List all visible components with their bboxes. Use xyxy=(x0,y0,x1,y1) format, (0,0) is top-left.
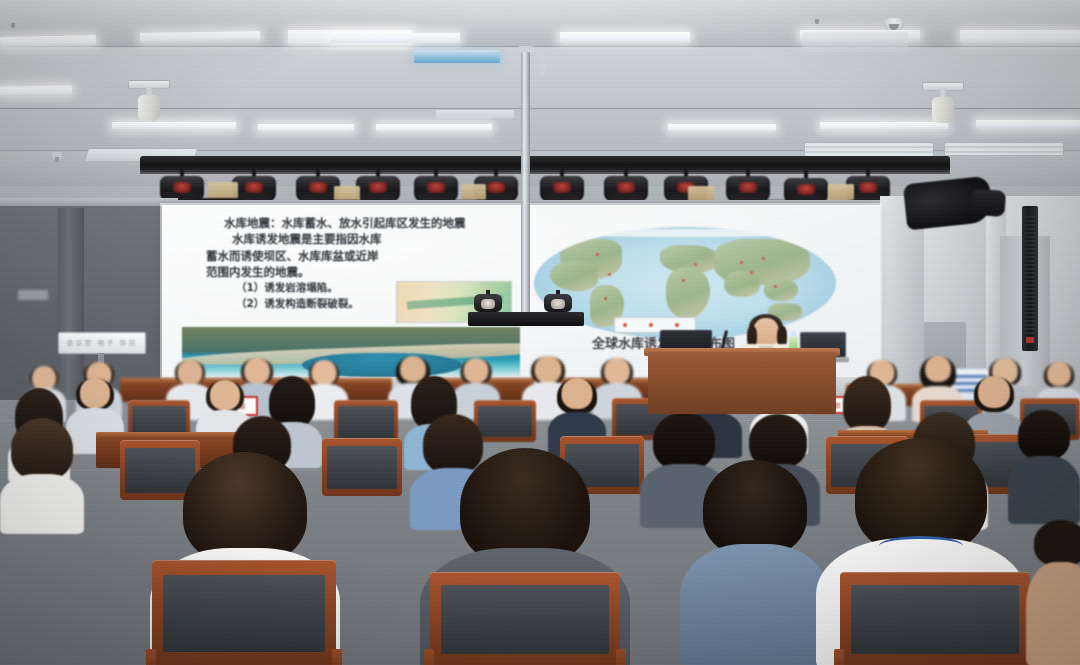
conference-hall-photo: 会议室 电子 导览 水库地震：水库蓄水、放水引起库区发生的地震 水库诱发地震是主… xyxy=(0,0,1080,665)
slide-line-3: 蓄水而诱使坝区、水库库盆或近岸 xyxy=(206,248,486,264)
fire-sprinkler xyxy=(812,14,822,21)
ceiling-camera-mast-pole xyxy=(521,52,530,317)
ceiling-light-fixture xyxy=(802,32,908,52)
auditorium-chair[interactable] xyxy=(152,560,336,665)
seated-attendee xyxy=(0,418,84,522)
ceiling-dome-camera xyxy=(884,18,904,30)
wooden-podium xyxy=(648,352,836,414)
mast-spotlight xyxy=(474,290,502,316)
ceiling-projector xyxy=(922,82,964,130)
ceiling-light-fixture xyxy=(0,85,72,95)
wall-plaque xyxy=(18,290,48,300)
mast-spotlight xyxy=(544,290,572,316)
wall-column-speaker xyxy=(1022,206,1038,351)
ceiling-light-fixture xyxy=(560,32,690,42)
wall-information-sign: 会议室 电子 导览 xyxy=(58,332,146,354)
ceiling-light-fixture-blue xyxy=(414,50,500,63)
fire-sprinkler xyxy=(52,152,62,159)
ceiling-air-vent xyxy=(944,142,1064,156)
slide-line-2: 水库诱发地震是主要指因水库 xyxy=(206,231,486,247)
auditorium-chair[interactable] xyxy=(840,572,1030,665)
ceiling-light-fixture xyxy=(668,124,776,131)
wall-sign-text: 会议室 电子 导览 xyxy=(67,339,138,348)
truss-equipment-box xyxy=(462,184,486,200)
ceiling-light-fixture xyxy=(376,124,492,131)
ceiling-light-fixture xyxy=(976,120,1080,128)
ceiling-projector xyxy=(128,80,170,128)
fire-sprinkler xyxy=(8,18,18,25)
ceiling-light-fixture xyxy=(436,110,514,118)
ceiling-light-fixture xyxy=(960,30,1080,42)
ceiling-light-fixture xyxy=(258,124,354,131)
slide-line-4: 范围内发生的地震。 xyxy=(206,264,486,280)
ceiling-light-fixture xyxy=(330,33,460,43)
auditorium-chair[interactable] xyxy=(430,572,620,665)
ceiling-light-fixture xyxy=(0,35,96,47)
seated-attendee xyxy=(680,460,830,665)
slide-line-1: 水库地震：水库蓄水、放水引起库区发生的地震 xyxy=(206,215,486,231)
seated-attendee xyxy=(1026,520,1080,665)
truss-equipment-box xyxy=(828,184,854,200)
